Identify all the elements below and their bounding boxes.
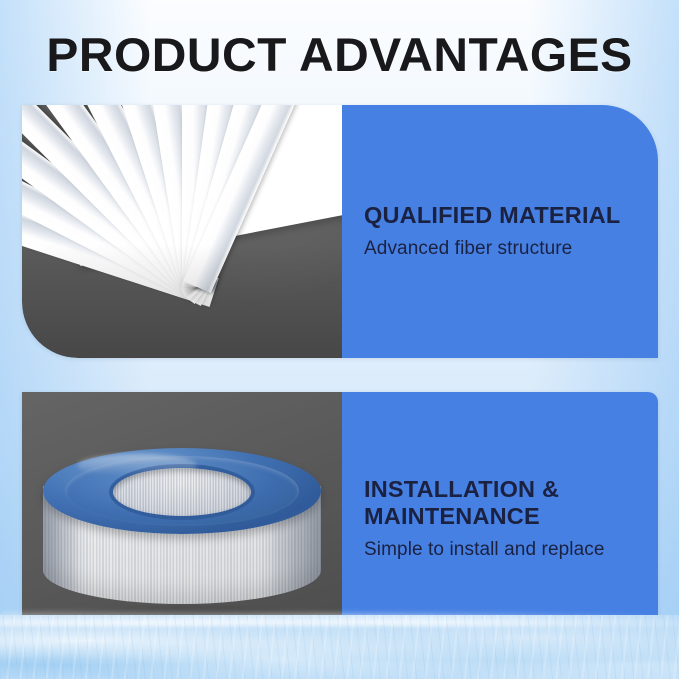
- advantage-card-qualified-material: QUALIFIED MATERIAL Advanced fiber struct…: [22, 105, 658, 358]
- advantage-heading-1: QUALIFIED MATERIAL: [364, 202, 632, 229]
- advantage-text-panel-1: QUALIFIED MATERIAL Advanced fiber struct…: [342, 105, 658, 358]
- pleated-media-illustration: [22, 105, 342, 358]
- page-title: PRODUCT ADVANTAGES: [0, 27, 679, 82]
- advantage-heading-2: INSTALLATION & MAINTENANCE: [364, 476, 632, 531]
- cartridge-blue-cap: [43, 448, 321, 534]
- advantage-subtext-2: Simple to install and replace: [364, 538, 632, 562]
- advantage-subtext-1: Advanced fiber structure: [364, 237, 632, 261]
- filter-media-photo: [22, 105, 342, 358]
- cartridge-cap-highlight: [77, 454, 197, 476]
- water-surface: [0, 615, 679, 679]
- water-ripples: [0, 615, 679, 679]
- filter-cartridge: [43, 448, 321, 620]
